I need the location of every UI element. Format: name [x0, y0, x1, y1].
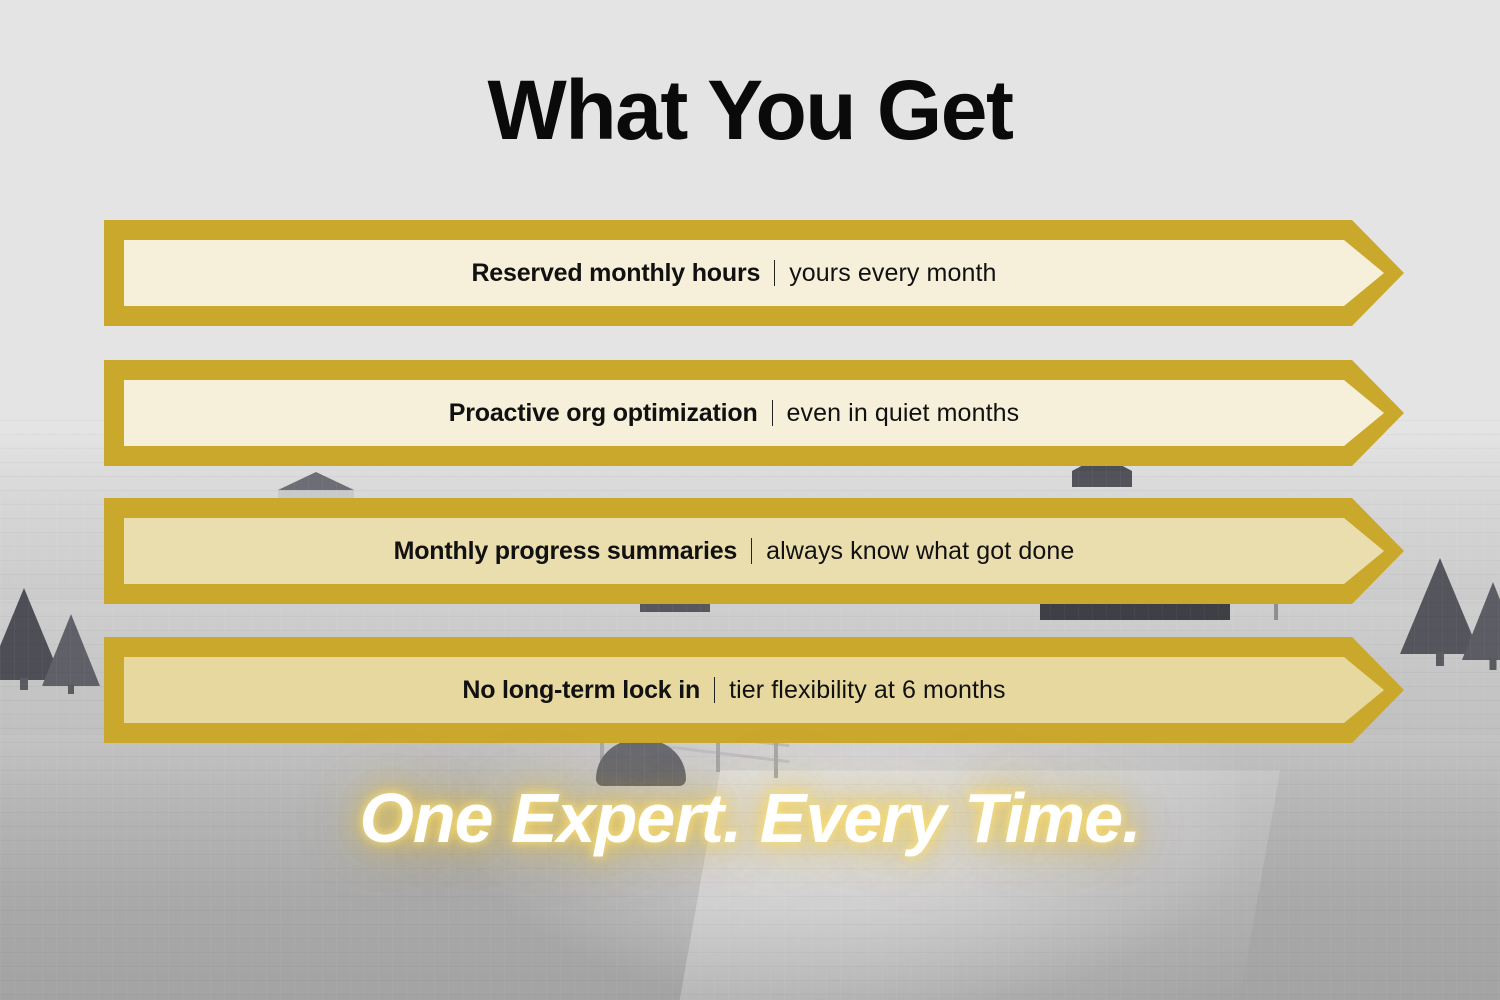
banner-inner-panel: No long-term lock in tier flexibility at…: [124, 657, 1384, 723]
benefit-text: Reserved monthly hours yours every month: [471, 260, 996, 286]
benefit-banner-4[interactable]: No long-term lock in tier flexibility at…: [104, 637, 1404, 743]
benefit-separator-icon: [774, 260, 775, 286]
banner-inner-panel: Monthly progress summaries always know w…: [124, 518, 1384, 584]
benefit-separator-icon: [751, 538, 752, 564]
banner-inner-panel: Proactive org optimization even in quiet…: [124, 380, 1384, 446]
benefit-banner-2[interactable]: Proactive org optimization even in quiet…: [104, 360, 1404, 466]
benefit-detail: yours every month: [789, 261, 996, 286]
benefit-title: Monthly progress summaries: [394, 539, 738, 564]
benefit-title: Proactive org optimization: [449, 401, 758, 426]
benefit-banner-3[interactable]: Monthly progress summaries always know w…: [104, 498, 1404, 604]
benefit-text: No long-term lock in tier flexibility at…: [462, 677, 1005, 703]
benefit-detail: even in quiet months: [787, 401, 1020, 426]
benefit-text: Proactive org optimization even in quiet…: [449, 400, 1019, 426]
benefit-separator-icon: [714, 677, 715, 703]
banner-inner-panel: Reserved monthly hours yours every month: [124, 240, 1384, 306]
benefit-separator-icon: [772, 400, 773, 426]
benefit-title: No long-term lock in: [462, 678, 700, 703]
benefit-detail: tier flexibility at 6 months: [729, 678, 1006, 703]
benefit-banner-1[interactable]: Reserved monthly hours yours every month: [104, 220, 1404, 326]
slide-canvas: What You Get Reserved monthly hours your…: [0, 0, 1500, 1000]
benefit-title: Reserved monthly hours: [471, 261, 760, 286]
tagline: One Expert. Every Time.: [0, 778, 1500, 858]
benefit-detail: always know what got done: [766, 539, 1074, 564]
benefit-text: Monthly progress summaries always know w…: [394, 538, 1075, 564]
